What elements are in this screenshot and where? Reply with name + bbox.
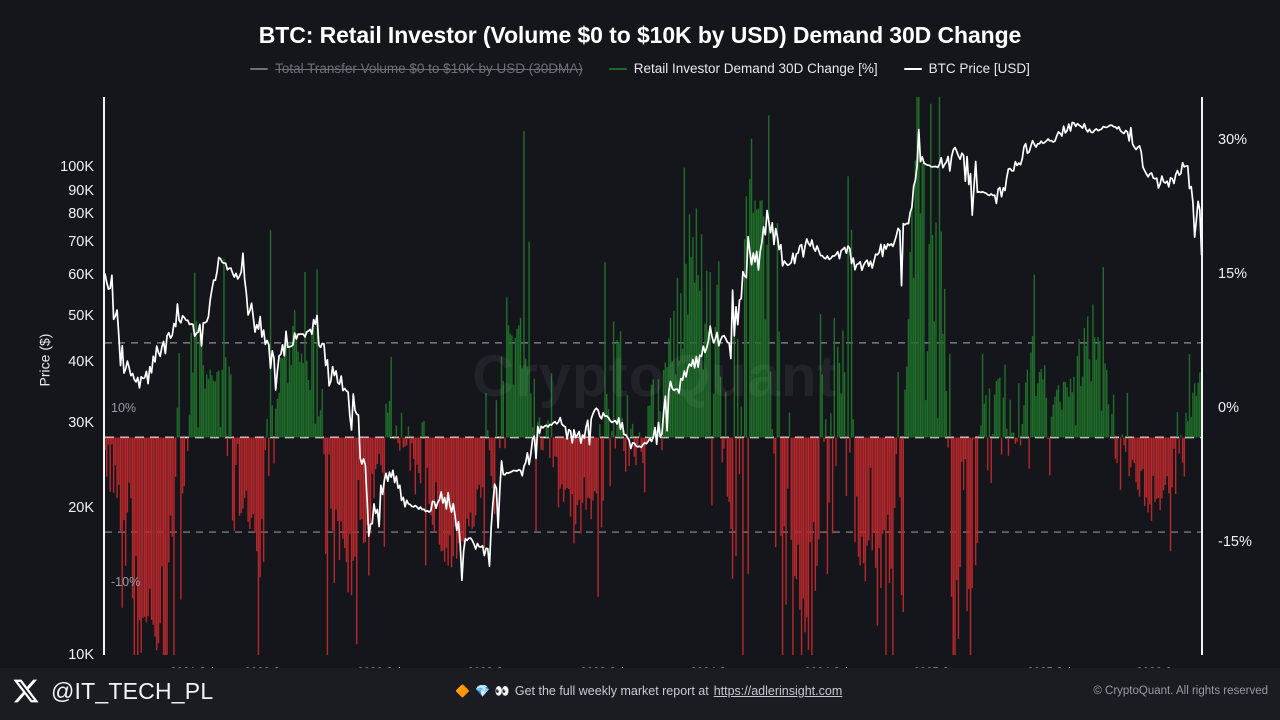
y-tick-left-20k: 20K (68, 500, 94, 516)
y-tick-left-10k: 10K (68, 647, 94, 663)
y-tick-left-70k: 70K (68, 234, 94, 250)
legend-item-btc-price[interactable]: BTC Price [USD] (904, 62, 1030, 76)
promo-text: Get the full weekly market report at (515, 684, 709, 698)
y-tick-left-60k: 60K (68, 267, 94, 283)
plot-area: CryptoQuant 10% -10% (103, 97, 1203, 655)
gridline-label-10-percent: 10% (107, 401, 136, 415)
legend-label-total-transfer-volume: Total Transfer Volume $0 to $10K by USD … (275, 62, 583, 76)
gem-icon: 💎 (475, 685, 490, 697)
y-tick-right-0: 0% (1218, 400, 1239, 416)
legend-swatch-retail-investor-demand (609, 68, 627, 71)
eyes-icon: 👀 (495, 685, 510, 697)
y-tick-right-neg15: -15% (1218, 534, 1252, 550)
legend-swatch-btc-price (904, 68, 922, 71)
legend-swatch-total-transfer-volume (250, 68, 268, 71)
plot-inner: CryptoQuant (105, 97, 1201, 655)
demand-negative-area (105, 437, 1184, 655)
demand-positive-area (177, 97, 1201, 437)
y-tick-left-30k: 30K (68, 415, 94, 431)
promo-message: 🔶 💎 👀 Get the full weekly market report … (455, 684, 842, 698)
y-tick-left-40k: 40K (68, 354, 94, 370)
handle-text: @IT_TECH_PL (51, 678, 213, 705)
chart-svg (105, 97, 1201, 655)
y-axis-left-title: Price ($) (36, 334, 52, 387)
legend-item-retail-investor-demand[interactable]: Retail Investor Demand 30D Change [%] (609, 62, 878, 76)
legend-label-btc-price: BTC Price [USD] (929, 62, 1030, 76)
copyright-text: © CryptoQuant. All rights reserved (1093, 685, 1268, 697)
y-tick-left-50k: 50K (68, 308, 94, 324)
legend-item-total-transfer-volume[interactable]: Total Transfer Volume $0 to $10K by USD … (250, 62, 583, 76)
legend-label-retail-investor-demand: Retail Investor Demand 30D Change [%] (634, 62, 878, 76)
gridline-label-neg-10-percent: -10% (107, 575, 140, 589)
chart-legend: Total Transfer Volume $0 to $10K by USD … (0, 62, 1280, 76)
y-tick-left-90k: 90K (68, 183, 94, 199)
btc-price-line (105, 122, 1201, 580)
y-tick-left-80k: 80K (68, 206, 94, 222)
social-handle[interactable]: @IT_TECH_PL (12, 677, 213, 705)
orange-diamond-icon: 🔶 (455, 685, 470, 697)
footer-bar: @IT_TECH_PL 🔶 💎 👀 Get the full weekly ma… (0, 668, 1280, 720)
y-tick-left-100k: 100K (60, 159, 94, 175)
y-tick-right-30: 30% (1218, 132, 1247, 148)
y-tick-right-15: 15% (1218, 266, 1247, 282)
chart-page: BTC: Retail Investor (Volume $0 to $10K … (0, 0, 1280, 720)
x-logo-icon (12, 677, 40, 705)
promo-link[interactable]: https://adlerinsight.com (714, 684, 843, 698)
page-title: BTC: Retail Investor (Volume $0 to $10K … (0, 22, 1280, 49)
